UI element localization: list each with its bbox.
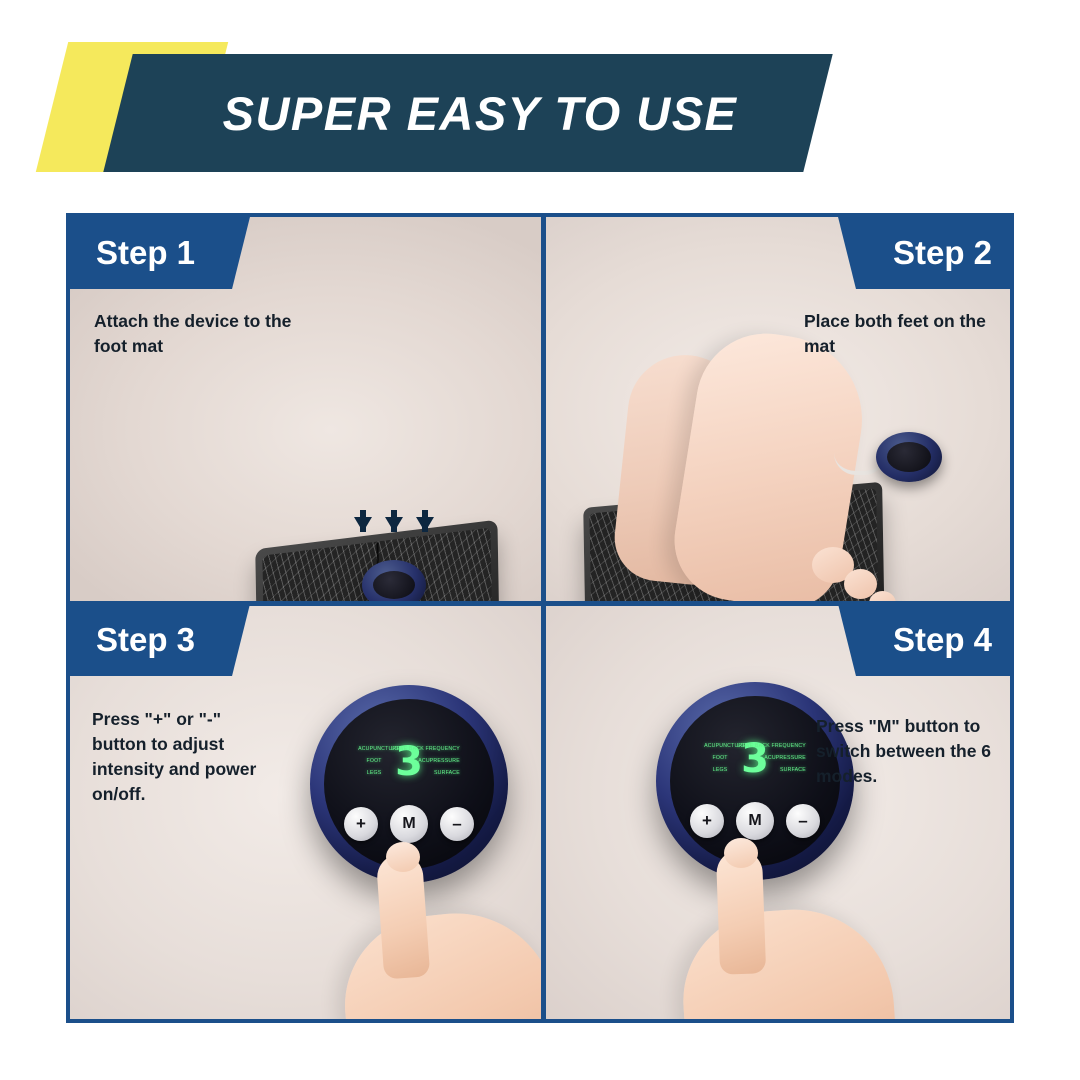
plus-button[interactable]: +: [690, 804, 724, 838]
led-label: LEGS: [704, 768, 736, 774]
mode-button[interactable]: M: [736, 802, 774, 840]
step-4-panel: ACUPUNCTURE FOOT LEGS 3 LOWE BACK FREQUE…: [544, 604, 1014, 1023]
steps-grid: Step 1 Attach the device to the foot mat…: [66, 213, 1014, 1023]
step-2-label-text: Step 2: [893, 234, 992, 272]
page-title: SUPER EASY TO USE: [160, 54, 800, 172]
step-1-caption: Attach the device to the foot mat: [94, 309, 294, 359]
led-label: LEGS: [358, 771, 390, 777]
arrow-down-icon: [354, 517, 372, 532]
led-label: ACUPRESSURE: [418, 759, 460, 765]
header-banner: SUPER EASY TO USE: [0, 42, 1080, 172]
control-buttons-step-4: + M –: [690, 802, 820, 840]
step-3-caption: Press "+" or "-" button to adjust intens…: [92, 707, 262, 806]
minus-button[interactable]: –: [440, 807, 474, 841]
palm-image: [336, 904, 544, 1023]
led-label: FOOT: [704, 756, 736, 762]
page-root: SUPER EASY TO USE Step 1 Attach the devi…: [0, 0, 1080, 1080]
step-1-label-text: Step 1: [96, 234, 195, 272]
led-labels-right: LOWE BACK FREQUENCY ACUPRESSURE SURFACE: [428, 747, 460, 776]
led-display-step-4: ACUPUNCTURE FOOT LEGS 3 LOWE BACK FREQUE…: [696, 730, 814, 788]
led-label: SURFACE: [780, 768, 806, 774]
step-1-panel: Step 1 Attach the device to the foot mat: [70, 217, 544, 604]
control-buttons-step-3: + M –: [344, 805, 474, 843]
grid-divider-horizontal: [70, 601, 1014, 606]
led-label: ACUPUNCTURE: [358, 747, 390, 753]
led-label: SURFACE: [434, 771, 460, 777]
control-device-image: [876, 432, 942, 482]
control-pad-face: ACUPUNCTURE FOOT LEGS 3 LOWE BACK FREQUE…: [670, 696, 840, 866]
step-4-caption: Press "M" button to switch between the 6…: [816, 714, 996, 789]
led-label: LOWE BACK FREQUENCY: [391, 747, 460, 753]
fingertip-image: [724, 838, 758, 868]
step-3-panel: ACUPUNCTURE FOOT LEGS 3 LOWE BACK FREQUE…: [70, 604, 544, 1023]
mode-button[interactable]: M: [390, 805, 428, 843]
step-2-panel: Step 2 Place both feet on the mat: [544, 217, 1014, 604]
arrow-down-icon: [385, 517, 403, 532]
led-display-step-3: ACUPUNCTURE FOOT LEGS 3 LOWE BACK FREQUE…: [350, 733, 468, 791]
led-labels-right: LOWE BACK FREQUENCY ACUPRESSURE SURFACE: [774, 744, 806, 773]
fingertip-image: [386, 842, 420, 872]
step-3-label: Step 3: [70, 604, 250, 676]
step-4-label-text: Step 4: [893, 621, 992, 659]
led-label: FOOT: [358, 759, 390, 765]
grid-divider-vertical: [541, 217, 546, 1023]
led-label: LOWE BACK FREQUENCY: [737, 744, 806, 750]
step-1-label: Step 1: [70, 217, 250, 289]
led-labels-left: ACUPUNCTURE FOOT LEGS: [358, 747, 390, 776]
step-3-label-text: Step 3: [96, 621, 195, 659]
led-labels-left: ACUPUNCTURE FOOT LEGS: [704, 744, 736, 773]
plus-button[interactable]: +: [344, 807, 378, 841]
minus-button[interactable]: –: [786, 804, 820, 838]
palm-image: [677, 903, 900, 1023]
control-device-image: [362, 560, 426, 604]
led-label: ACUPUNCTURE: [704, 744, 736, 750]
step-4-label: Step 4: [838, 604, 1014, 676]
step-2-label: Step 2: [838, 217, 1014, 289]
arrow-down-icon: [416, 517, 434, 532]
finger-image: [716, 849, 766, 975]
arrow-down-icon-group: [354, 517, 434, 532]
step-2-caption: Place both feet on the mat: [804, 309, 994, 359]
led-label: ACUPRESSURE: [764, 756, 806, 762]
